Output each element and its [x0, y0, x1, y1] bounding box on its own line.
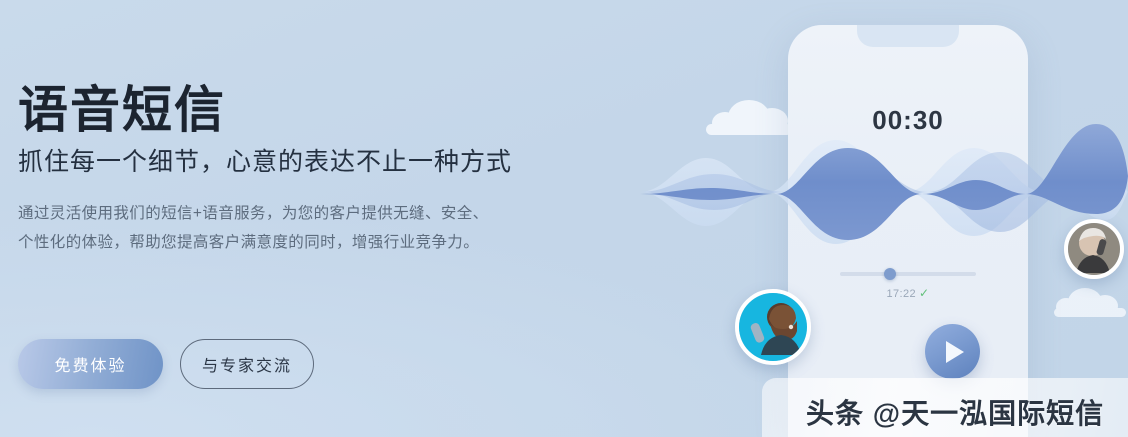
play-button[interactable] — [925, 324, 980, 379]
message-timestamp: 17:22✓ — [840, 286, 976, 300]
cta-button-row: 免费体验 与专家交流 — [18, 339, 314, 389]
contact-expert-button[interactable]: 与专家交流 — [180, 339, 314, 389]
avatar-listening-user[interactable] — [1064, 219, 1124, 279]
slider-track[interactable] — [840, 272, 976, 276]
avatar-image-left — [739, 293, 807, 361]
playback-slider[interactable] — [840, 271, 976, 277]
description-line-2: 个性化的体验，帮助您提高客户满意度的同时，增强行业竞争力。 — [18, 229, 563, 258]
delivered-check-icon: ✓ — [919, 286, 929, 300]
avatar-speaking-user[interactable] — [735, 289, 811, 365]
recording-timer: 00:30 — [788, 105, 1028, 136]
watermark-text: 头条 @天一泓国际短信 — [806, 392, 1104, 432]
phone-mockup: 00:30 — [788, 25, 1028, 437]
play-icon — [946, 341, 964, 363]
timestamp-text: 17:22 — [887, 288, 917, 300]
avatar-image-right — [1068, 223, 1120, 275]
phone-notch — [857, 25, 959, 47]
page-title: 语音短信 — [18, 84, 618, 137]
page-subtitle: 抓住每一个细节，心意的表达不止一种方式 — [18, 147, 618, 178]
description-line-1: 通过灵活使用我们的短信+语音服务，为您的客户提供无缝、安全、 — [18, 200, 563, 229]
phone-illustration: 00:30 — [640, 0, 1128, 437]
hero-copy: 语音短信 抓住每一个细节，心意的表达不止一种方式 通过灵活使用我们的短信+语音服… — [18, 84, 618, 258]
free-trial-button[interactable]: 免费体验 — [18, 339, 163, 389]
hero-banner: 语音短信 抓住每一个细节，心意的表达不止一种方式 通过灵活使用我们的短信+语音服… — [0, 0, 1128, 437]
page-description: 通过灵活使用我们的短信+语音服务，为您的客户提供无缝、安全、 个性化的体验，帮助… — [18, 200, 563, 257]
